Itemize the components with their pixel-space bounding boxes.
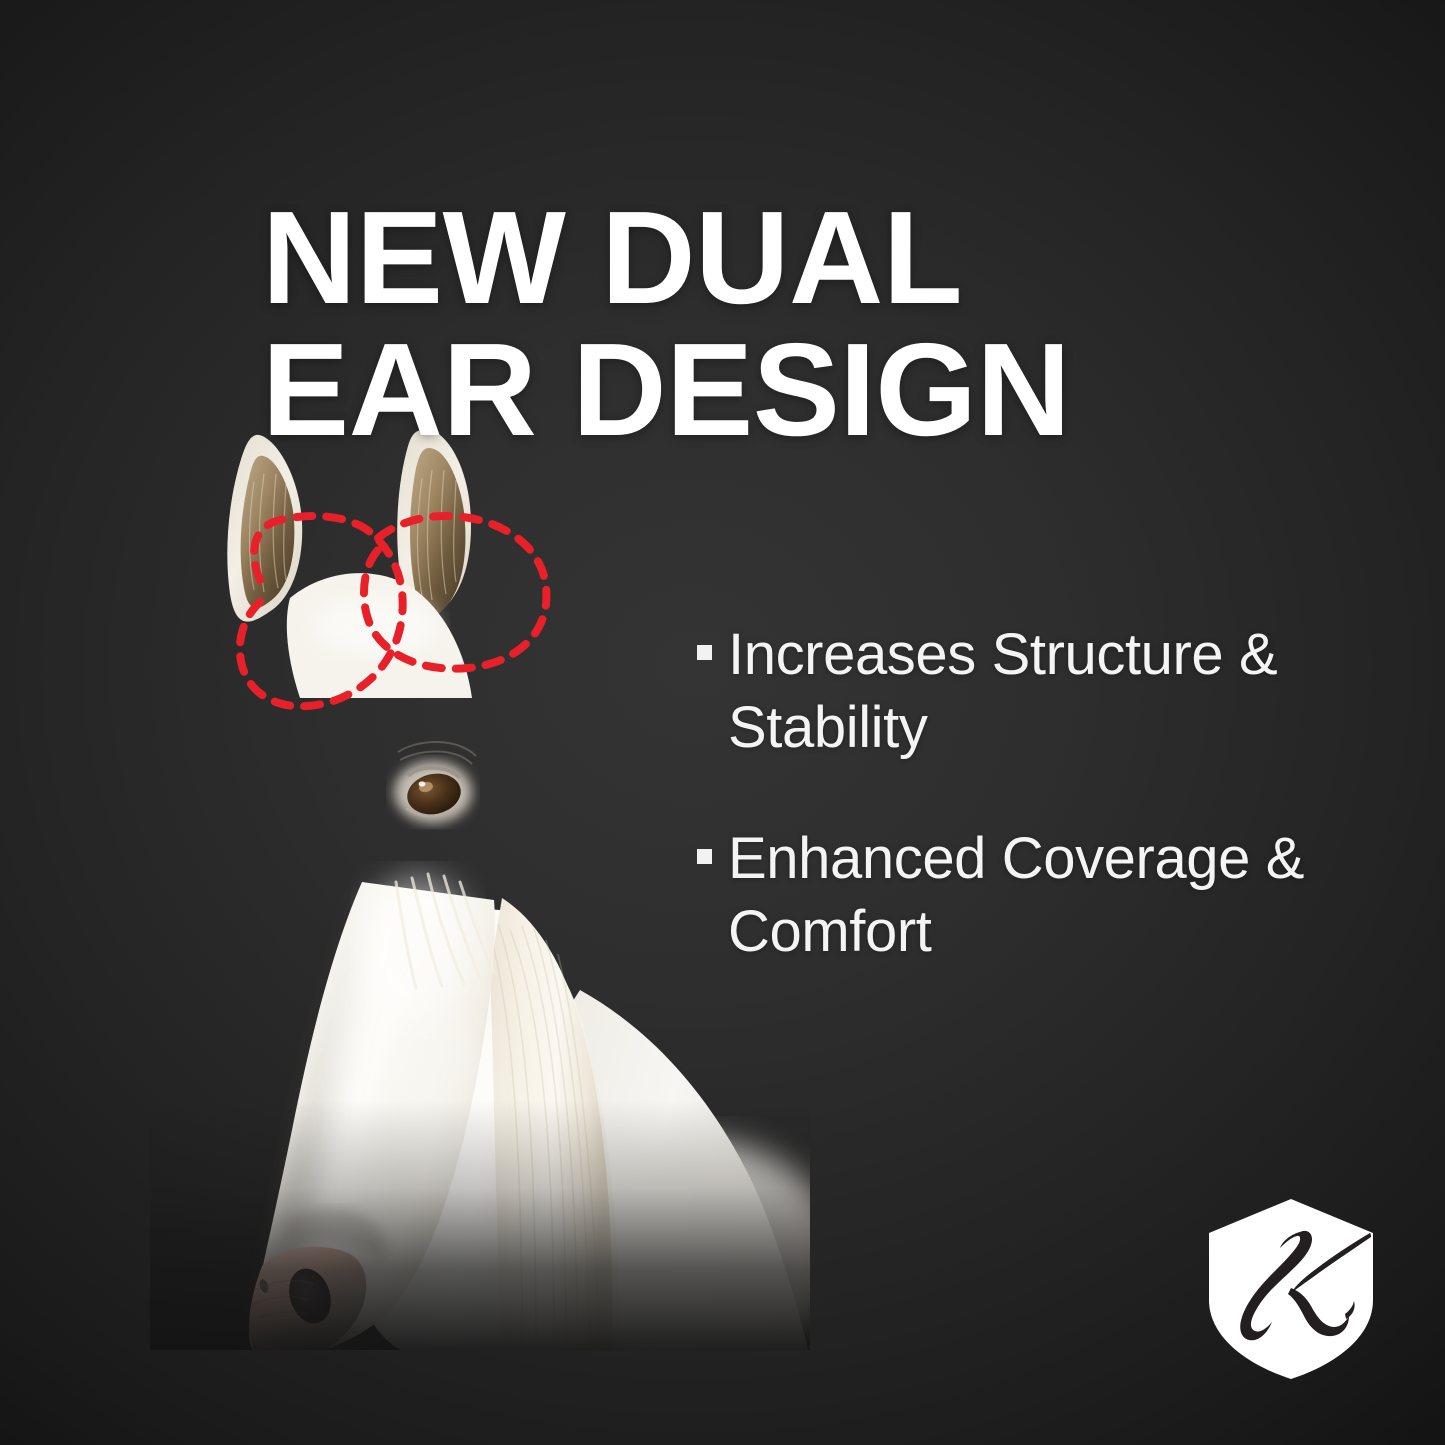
- shield-k-logo-icon: [1203, 1196, 1379, 1382]
- feature-list: Increases Structure & Stability Enhanced…: [697, 618, 1357, 1026]
- list-item: Enhanced Coverage & Comfort: [697, 822, 1357, 968]
- headline-line-2: EAR DESIGN: [262, 327, 1212, 454]
- list-item: Increases Structure & Stability: [697, 618, 1357, 764]
- headline-line-1: NEW DUAL: [262, 195, 1212, 322]
- square-bullet-icon: [697, 849, 712, 864]
- square-bullet-icon: [697, 645, 712, 660]
- feature-text: Increases Structure & Stability: [728, 618, 1357, 764]
- poster-canvas: White horse head and neck with cream man…: [0, 0, 1445, 1445]
- page-title: NEW DUAL EAR DESIGN: [262, 195, 1212, 454]
- brand-logo: K: [1203, 1196, 1379, 1382]
- feature-text: Enhanced Coverage & Comfort: [728, 822, 1357, 968]
